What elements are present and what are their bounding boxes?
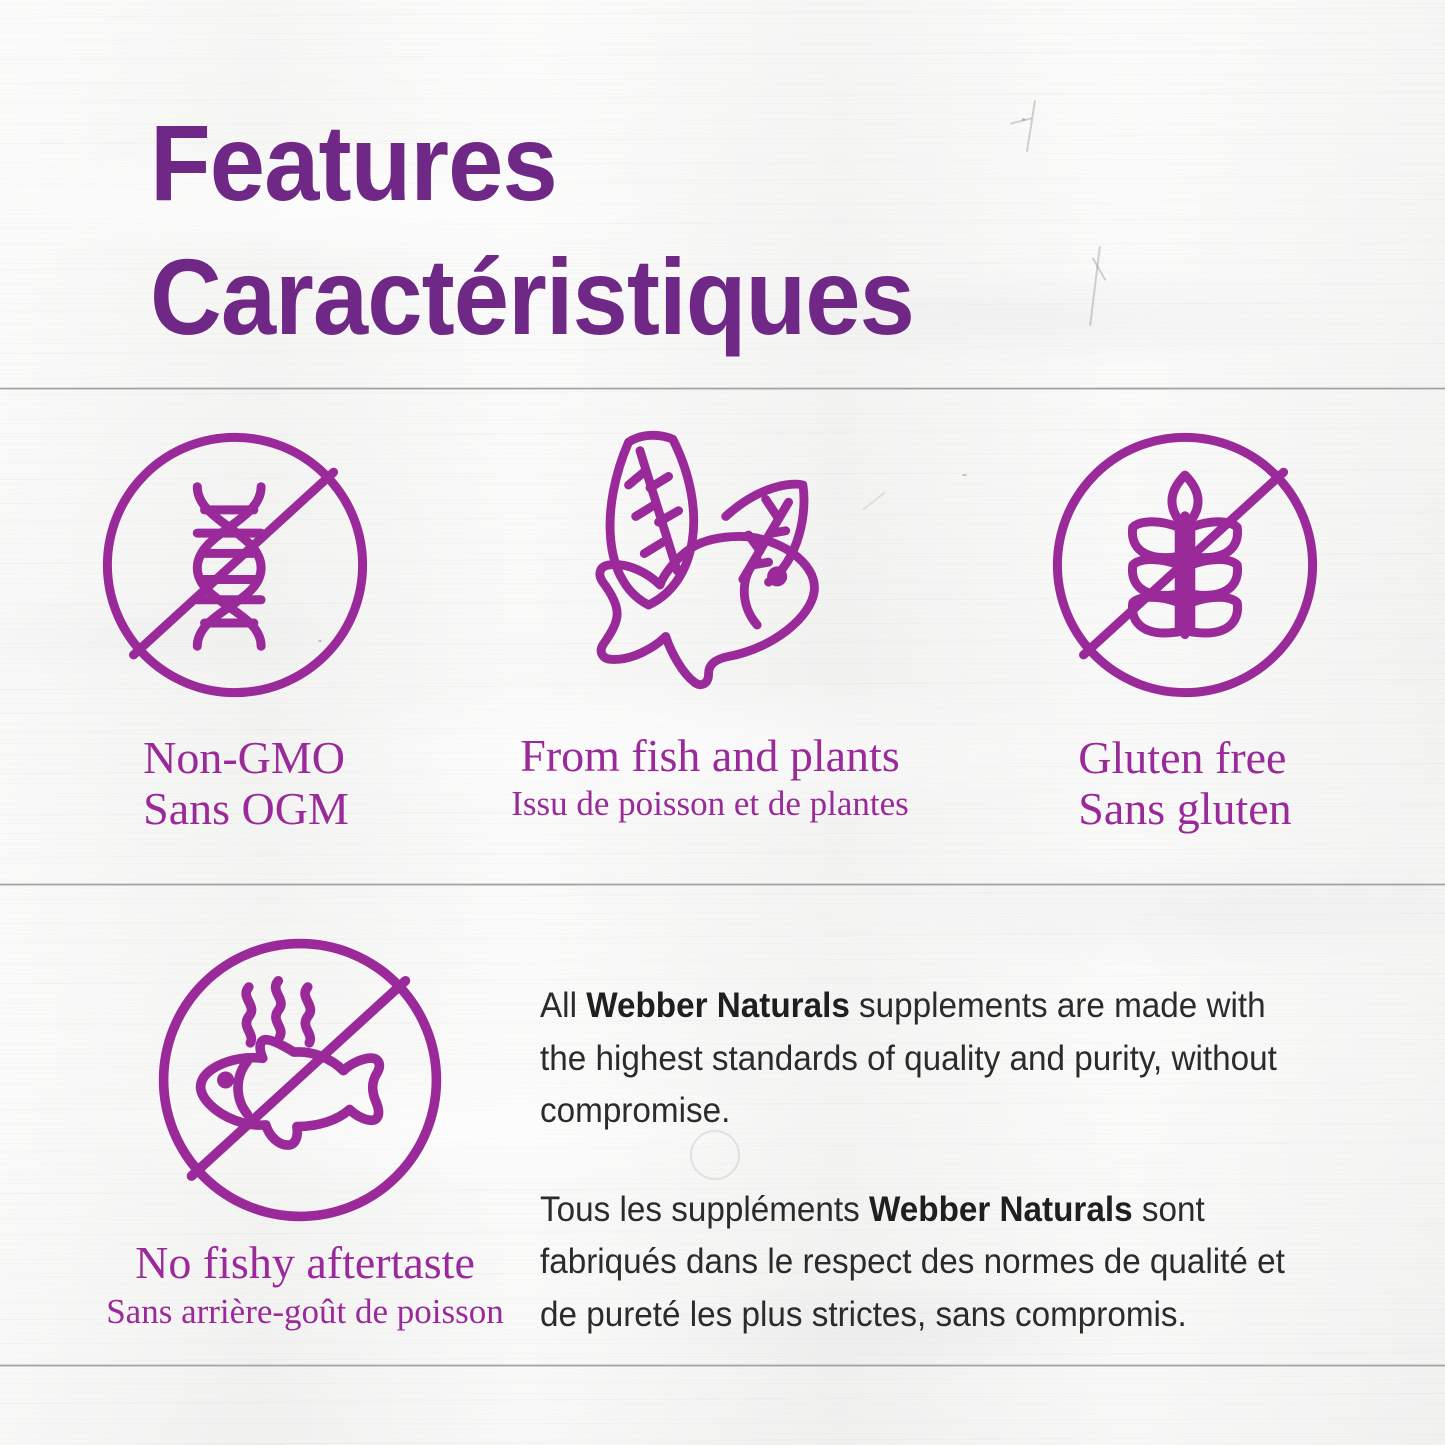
fish-and-leaves-icon [560,415,860,715]
brand-name: Webber Naturals [586,986,850,1025]
fish-gill [238,1061,247,1114]
paragraph-en: All Webber Naturals supplements are made… [540,980,1291,1138]
feature-label-fr: Sans gluten [1078,784,1291,835]
feature-label-en: Non-GMO [143,733,349,784]
odor-wave [276,981,281,1037]
fish-body [600,536,815,684]
feature-label-non-gmo: Non-GMO Sans OGM [143,733,349,834]
odor-wave [305,987,310,1043]
feature-label-en: From fish and plants [511,731,909,782]
brand-name: Webber Naturals [869,1190,1133,1229]
features-row: Non-GMO Sans OGM [0,415,1445,834]
paragraph-fr-before: Tous les suppléments [540,1190,869,1229]
feature-item-gluten-free: Gluten free Sans gluten [950,415,1420,834]
feature-label-fr: Sans OGM [143,784,349,835]
fish-gill [744,559,757,625]
feature-label-gluten-free: Gluten free Sans gluten [1078,733,1291,834]
paragraph-fr: Tous les suppléments Webber Naturals son… [540,1184,1291,1342]
feature-label-en: Gluten free [1078,733,1291,784]
page-title: Features Caractéristiques [150,96,1300,364]
feature-item-fish-plants: From fish and plants Issu de poisson et … [470,415,950,834]
body-copy: All Webber Naturals supplements are made… [540,980,1330,1387]
feature-label-fr: Issu de poisson et de plantes [511,782,909,826]
feature-panel: Features Caractéristiques [0,0,1445,1445]
no-gmo-dna-icon [90,415,380,715]
paragraph-en-before: All [540,986,586,1025]
feature-label-en: No fishy aftertaste [70,1238,540,1289]
fish-eye [217,1071,234,1088]
feature-item-non-gmo: Non-GMO Sans OGM [0,415,470,834]
fish-eye [767,566,787,586]
no-fishy-smell-icon [145,925,455,1235]
odor-wave [246,987,251,1043]
feature-label-fish-plants: From fish and plants Issu de poisson et … [511,731,909,825]
feature-label-no-fishy-aftertaste: No fishy aftertaste Sans arrière-goût de… [70,1238,540,1334]
no-gluten-wheat-icon [1040,415,1330,715]
feature-label-fr: Sans arrière-goût de poisson [70,1289,540,1335]
page-title-fr: Caractéristiques [150,230,1208,364]
page-title-en: Features [150,96,1208,230]
